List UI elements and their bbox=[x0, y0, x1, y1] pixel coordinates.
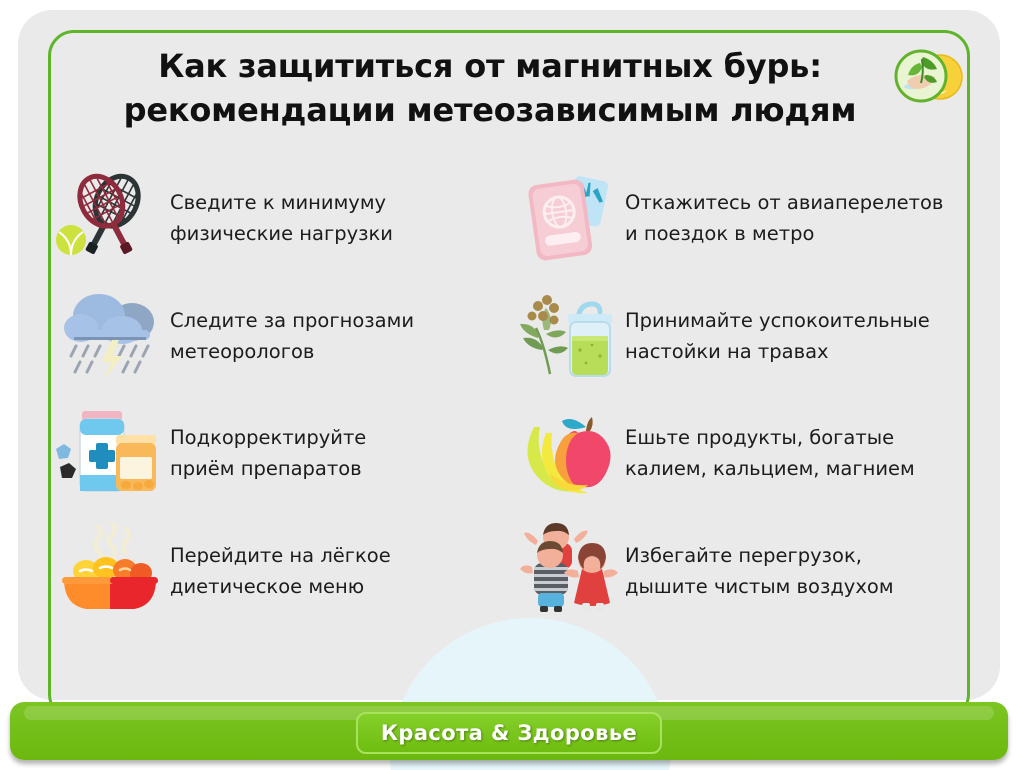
tips-column-left: Сведите к минимуму физические нагрузки bbox=[50, 168, 515, 638]
medicine-bottles-icon bbox=[50, 403, 170, 503]
list-item: Избегайте перегрузок, дышите чистым возд… bbox=[515, 521, 980, 639]
list-item: Ешьте продукты, богатые калием, кальцием… bbox=[515, 403, 980, 521]
rain-cloud-lightning-icon bbox=[50, 286, 170, 386]
page-title: Как защититься от магнитных бурь: рекоме… bbox=[60, 44, 960, 132]
poster-header: Как защититься от магнитных бурь: рекоме… bbox=[60, 44, 960, 152]
herbal-drink-jar-icon bbox=[515, 286, 625, 386]
banana-apple-icon bbox=[515, 403, 625, 503]
tips-column-right: Откажитесь от авиаперелетов и поездок в … bbox=[515, 168, 980, 638]
leaf-and-face-logo bbox=[893, 45, 965, 107]
list-item: Принимайте успокоительные настойки на тр… bbox=[515, 286, 980, 404]
list-item-label: Сведите к минимуму физические нагрузки bbox=[170, 168, 393, 249]
list-item: Перейдите на лёгкое диетическое меню bbox=[50, 521, 515, 639]
list-item-label: Принимайте успокоительные настойки на тр… bbox=[625, 286, 930, 367]
list-item: Откажитесь от авиаперелетов и поездок в … bbox=[515, 168, 980, 286]
list-item-label: Избегайте перегрузок, дышите чистым возд… bbox=[625, 521, 894, 602]
title-line-2: рекомендации метеозависимым людям bbox=[60, 88, 920, 132]
list-item: Подкорректируйте приём препаратов bbox=[50, 403, 515, 521]
list-item: Сведите к минимуму физические нагрузки bbox=[50, 168, 515, 286]
list-item-label: Перейдите на лёгкое диетическое меню bbox=[170, 521, 391, 602]
passport-tickets-icon bbox=[515, 168, 625, 268]
hot-food-bowl-icon bbox=[50, 521, 170, 621]
list-item-label: Следите за прогнозами метеорологов bbox=[170, 286, 414, 367]
tips-columns: Сведите к минимуму физические нагрузки bbox=[50, 168, 980, 638]
list-item-label: Откажитесь от авиаперелетов и поездок в … bbox=[625, 168, 943, 249]
title-line-1: Как защититься от магнитных бурь: bbox=[60, 44, 920, 88]
list-item: Следите за прогнозами метеорологов bbox=[50, 286, 515, 404]
list-item-label: Подкорректируйте приём препаратов bbox=[170, 403, 366, 484]
list-item-label: Ешьте продукты, богатые калием, кальцием… bbox=[625, 403, 915, 484]
badge-label: Красота & Здоровье bbox=[381, 721, 637, 745]
children-playing-icon bbox=[515, 521, 625, 621]
infographic-poster: Как защититься от магнитных бурь: рекоме… bbox=[0, 0, 1018, 770]
tennis-rackets-icon bbox=[50, 168, 170, 268]
status-badge[interactable]: Красота & Здоровье bbox=[356, 712, 662, 754]
